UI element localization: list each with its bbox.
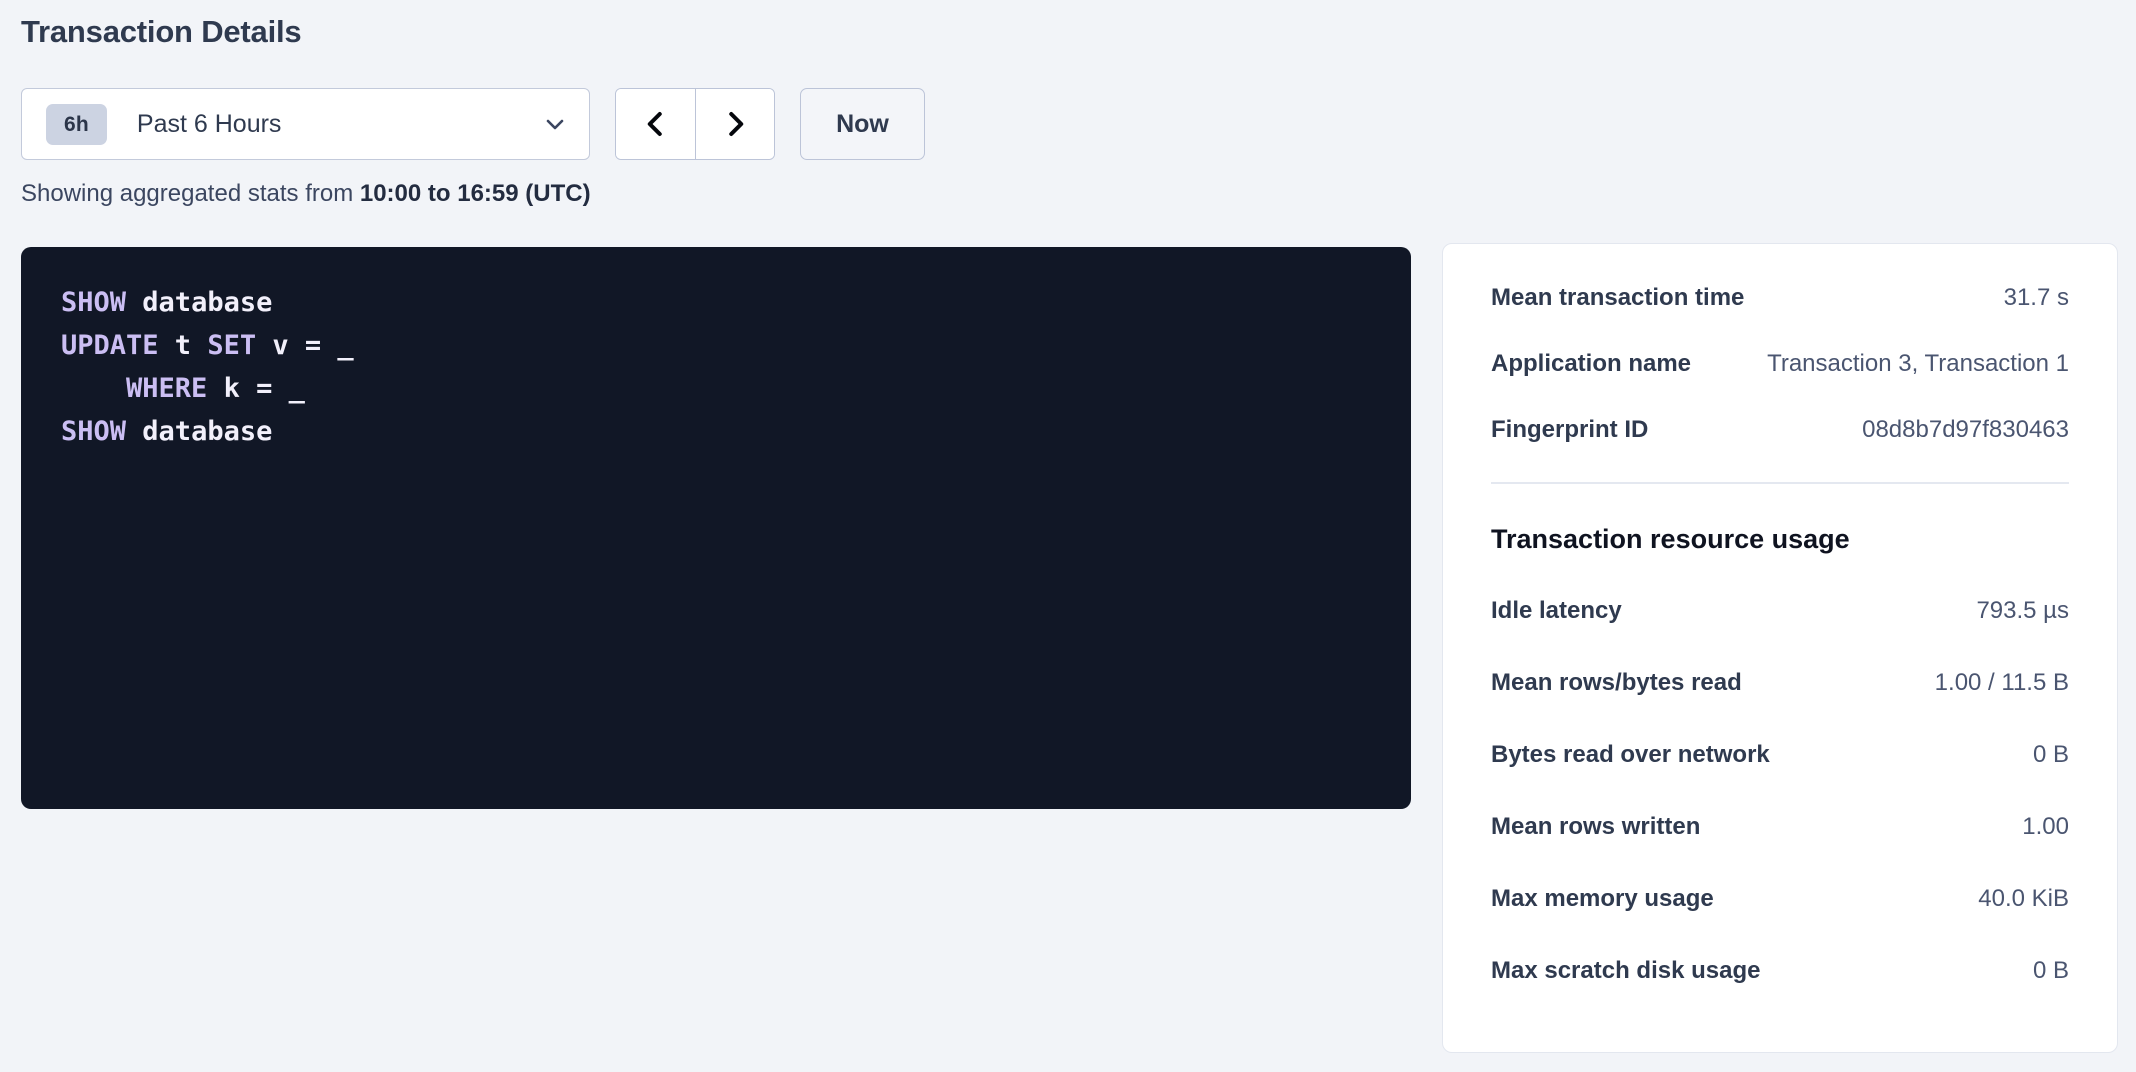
sql-token [61, 373, 126, 404]
aggregation-range-value: 10:00 to 16:59 (UTC) [360, 180, 591, 207]
detail-row-label: Bytes read over network [1491, 741, 1770, 769]
detail-row-value: 0 B [2033, 957, 2069, 985]
detail-row-value: 0 B [2033, 741, 2069, 769]
sql-token [126, 416, 142, 447]
detail-row: Max memory usage40.0 KiB [1491, 885, 2069, 913]
detail-row-value: 1.00 / 11.5 B [1935, 669, 2069, 697]
transaction-details-page: Transaction Details 6h Past 6 Hours Now … [0, 0, 2136, 1072]
page-title: Transaction Details [21, 14, 301, 50]
now-button[interactable]: Now [800, 88, 925, 160]
sql-token: SHOW [61, 416, 126, 447]
card-divider [1491, 482, 2069, 484]
sql-token: k = _ [207, 373, 305, 404]
sql-token: v = _ [256, 330, 354, 361]
detail-row-label: Mean rows/bytes read [1491, 669, 1742, 697]
aggregation-range-text: Showing aggregated stats from 10:00 to 1… [21, 180, 591, 208]
detail-row-label: Mean rows written [1491, 813, 1700, 841]
sql-token: SET [207, 330, 256, 361]
sql-token: database [142, 287, 272, 318]
detail-row-value: 1.00 [2022, 813, 2069, 841]
detail-row-value: Transaction 3, Transaction 1 [1767, 350, 2069, 378]
detail-row: Max scratch disk usage0 B [1491, 957, 2069, 985]
time-range-toolbar: 6h Past 6 Hours Now [21, 88, 925, 160]
previous-range-button[interactable] [616, 89, 695, 159]
sql-statement-panel[interactable]: SHOW database UPDATE t SET v = _ WHERE k… [21, 247, 1411, 809]
time-range-dropdown[interactable]: 6h Past 6 Hours [21, 88, 590, 160]
detail-row: Mean transaction time31.7 s [1491, 284, 2069, 312]
detail-row: Mean rows/bytes read1.00 / 11.5 B [1491, 669, 2069, 697]
detail-row: Application nameTransaction 3, Transacti… [1491, 350, 2069, 378]
detail-row-label: Fingerprint ID [1491, 416, 1648, 444]
summary-stats-list: Mean transaction time31.7 sApplication n… [1491, 284, 2069, 444]
detail-row-label: Idle latency [1491, 597, 1622, 625]
transaction-details-card: Mean transaction time31.7 sApplication n… [1442, 243, 2118, 1053]
sql-token [126, 287, 142, 318]
detail-row-label: Application name [1491, 350, 1691, 378]
time-nav-group [615, 88, 775, 160]
detail-row: Fingerprint ID08d8b7d97f830463 [1491, 416, 2069, 444]
detail-row: Bytes read over network0 B [1491, 741, 2069, 769]
detail-row-value: 31.7 s [2004, 284, 2069, 312]
detail-row-value: 08d8b7d97f830463 [1862, 416, 2069, 444]
time-range-badge: 6h [46, 104, 107, 145]
resource-usage-heading: Transaction resource usage [1491, 524, 2069, 555]
detail-row: Mean rows written1.00 [1491, 813, 2069, 841]
sql-token: UPDATE [61, 330, 159, 361]
detail-row-value: 793.5 µs [1976, 597, 2069, 625]
chevron-down-icon [543, 112, 567, 136]
sql-token: t [159, 330, 208, 361]
detail-row: Idle latency793.5 µs [1491, 597, 2069, 625]
sql-token: SHOW [61, 287, 126, 318]
sql-statement-code: SHOW database UPDATE t SET v = _ WHERE k… [61, 281, 1371, 453]
sql-token: WHERE [126, 373, 207, 404]
detail-row-label: Max scratch disk usage [1491, 957, 1760, 985]
detail-row-label: Mean transaction time [1491, 284, 1744, 312]
next-range-button[interactable] [695, 89, 774, 159]
resource-usage-list: Idle latency793.5 µsMean rows/bytes read… [1491, 597, 2069, 985]
sql-token: database [142, 416, 272, 447]
time-range-label: Past 6 Hours [137, 110, 543, 139]
detail-row-value: 40.0 KiB [1978, 885, 2069, 913]
aggregation-range-prefix: Showing aggregated stats from [21, 180, 360, 207]
detail-row-label: Max memory usage [1491, 885, 1714, 913]
